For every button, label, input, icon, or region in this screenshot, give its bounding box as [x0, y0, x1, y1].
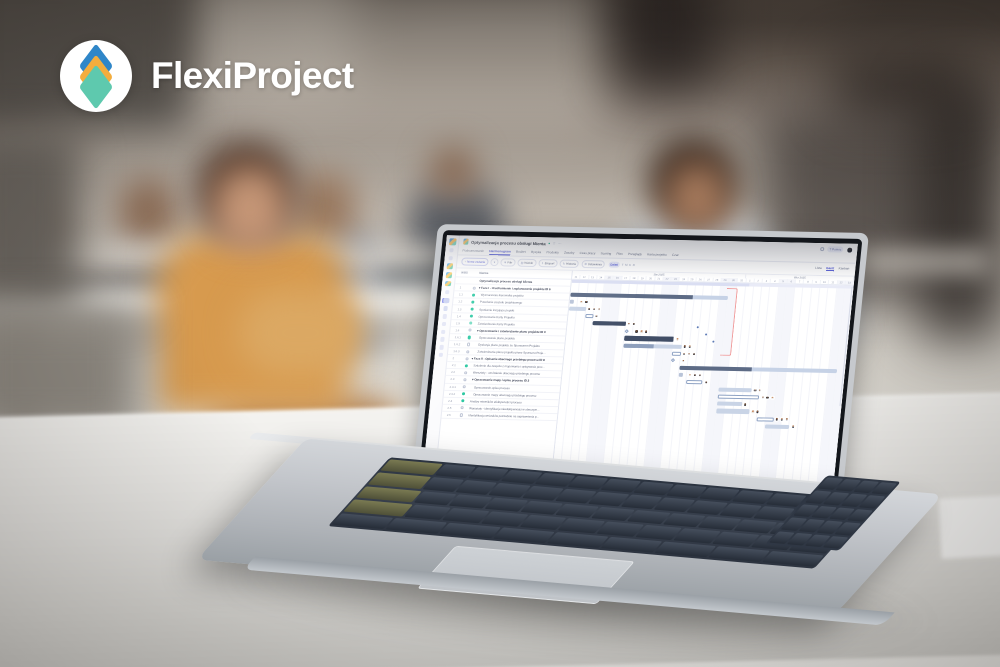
assignee-avatar[interactable]: [682, 344, 687, 348]
gantt-bar[interactable]: [623, 343, 681, 348]
tab-produkty[interactable]: Produkty: [546, 249, 559, 256]
check-circle-icon[interactable]: ●: [548, 241, 550, 245]
gantt-bar[interactable]: [717, 402, 742, 407]
sidebar-item-calendar[interactable]: [442, 322, 447, 326]
assignee-avatar[interactable]: [704, 380, 709, 384]
history-label: Historia: [566, 261, 576, 265]
keyboard-key: [439, 522, 501, 538]
cell-wbs: 2.3.2: [449, 392, 462, 396]
tab-zasoby[interactable]: Zasoby: [564, 249, 575, 256]
sidebar-item-reports[interactable]: [443, 298, 449, 303]
brand-logo: FlexiProject: [60, 40, 354, 112]
screenshot-root: FlexiProject: [0, 0, 1000, 667]
assignee-avatar[interactable]: [770, 396, 775, 400]
gantt-bar-progress: [623, 343, 654, 348]
gantt-bar[interactable]: [570, 300, 575, 304]
keyboard-key: [547, 532, 609, 548]
tab-plan[interactable]: Plan: [616, 250, 623, 257]
view-mode-gantt[interactable]: Gantt: [826, 266, 835, 271]
zoom-option-t[interactable]: T: [622, 262, 624, 266]
gantt-bar[interactable]: [624, 336, 674, 341]
assignee-avatar[interactable]: [675, 337, 680, 341]
cell-name: Opracowanie mapy obecnego przebiegu proc…: [468, 392, 560, 398]
cell-wbs: 2.4: [448, 399, 461, 403]
zoom-option-r[interactable]: R: [633, 263, 636, 267]
cell-wbs: 1.6: [455, 328, 468, 332]
milestone-diamond-icon[interactable]: [671, 358, 676, 363]
cell-name: Opracowanie opisu procesu: [469, 385, 561, 391]
assignee-avatar[interactable]: [765, 396, 770, 400]
sidebar-item-dashboard[interactable]: [449, 248, 454, 252]
cell-wbs: 1.3: [457, 307, 470, 311]
assignee-avatar[interactable]: [584, 300, 589, 304]
cell-name: Opracowanie planu projektu: [474, 335, 566, 341]
gantt-bar[interactable]: [757, 417, 774, 421]
assignee-avatar[interactable]: [692, 352, 697, 356]
sidebar-item-settings[interactable]: [442, 314, 447, 318]
sidebar-logo-icon[interactable]: [449, 238, 457, 245]
cell-name: Optymalizacja procesu obsługi klienta: [479, 279, 571, 285]
sidebar-item-goals[interactable]: [439, 345, 444, 349]
cell-name: Zatwierdzenie planu projektu przez Spons…: [472, 350, 564, 356]
cell-name: Identyfikacja wniosków potrzebnie na usp…: [466, 413, 558, 419]
cell-name: Dyskusja planu projektu ze Sponsorem Pro…: [473, 343, 565, 349]
task-rows[interactable]: Optymalizacja procesu obsługi klienta1▾ …: [436, 277, 571, 476]
assignee-avatar[interactable]: [587, 307, 592, 311]
assignee-avatar[interactable]: [688, 373, 693, 377]
assignee-avatar[interactable]: [780, 417, 785, 421]
view-mode-lista[interactable]: Lista: [815, 266, 822, 271]
star-icon[interactable]: ☆: [552, 242, 555, 246]
cell-wbs: 2.1: [452, 363, 465, 367]
keyboard-key: [385, 518, 447, 534]
assignee-avatar[interactable]: [592, 307, 597, 311]
table-row[interactable]: 2.6Identyfikacja wniosków potrzebnie na …: [441, 412, 557, 421]
sidebar-item-documents[interactable]: [441, 330, 446, 334]
views-label: Widoki: [524, 260, 533, 264]
column-header-nazwa: Nazwa: [479, 271, 488, 275]
cell-name: Wyznaczenie kierownika projektu: [478, 293, 570, 299]
sidebar-item-board[interactable]: [445, 281, 451, 286]
cell-wbs: 2: [452, 356, 465, 360]
assignee-avatar[interactable]: [644, 329, 649, 333]
sidebar-item-team[interactable]: [440, 337, 445, 341]
flexiproject-app: Optymalizacja procesu obsługi klienta ● …: [423, 235, 858, 483]
zoom-segmented-control[interactable]: Dzień T M K R: [608, 261, 635, 267]
project-icon: [463, 239, 469, 244]
help-button[interactable]: ? Pomoc: [827, 246, 844, 252]
tab-czas-pracy[interactable]: Czas pracy: [579, 250, 595, 257]
gantt-bar[interactable]: [678, 373, 683, 377]
cell-name: ▾ Faza II - Opisanie obecnego przebiegu …: [471, 357, 563, 363]
gantt-bar[interactable]: [718, 395, 760, 400]
assignee-avatar[interactable]: [687, 352, 692, 356]
assignee-avatar[interactable]: [784, 417, 789, 421]
gantt-bar[interactable]: [672, 351, 681, 355]
zoom-chip-dzien[interactable]: Dzień: [608, 261, 620, 267]
views-button[interactable]: ▤ Widoki: [517, 258, 536, 266]
logo-mark: [60, 40, 132, 112]
milestone-diamond-icon[interactable]: [624, 329, 629, 334]
gantt-bar-rows[interactable]: [552, 284, 853, 483]
keyboard-key: [493, 527, 555, 543]
keyboard-key: [601, 536, 663, 552]
avatar[interactable]: [846, 246, 854, 253]
assignee-avatar[interactable]: [743, 402, 748, 406]
gantt-bar[interactable]: [585, 314, 594, 318]
assignee-avatar[interactable]: [775, 417, 780, 421]
task-table: WBS Nazwa Optymalizacja procesu obsługi …: [436, 268, 573, 477]
cell-name: Powołanie zespołu projektowego: [477, 300, 569, 306]
settings-label: Ustawienia: [588, 262, 602, 266]
tab-przeglady[interactable]: Przeglądy: [628, 251, 643, 258]
cell-name: Spotkanie inicjujące projekt: [476, 307, 568, 313]
cell-wbs: 1.6.1: [455, 335, 468, 339]
cell-wbs: 1.2: [458, 300, 471, 304]
gantt-bar[interactable]: [718, 388, 752, 393]
assignee-avatar[interactable]: [753, 388, 758, 392]
cell-name: Szkolenie dla zespołu z mapowania i opis…: [471, 364, 563, 370]
cell-wbs: 2.6: [447, 413, 460, 417]
cell-name: ▾ Opracowanie i zatwierdzenie planu proj…: [474, 328, 566, 334]
bell-icon[interactable]: [820, 247, 824, 251]
view-mode-switch[interactable]: Lista Gantt Kanban: [815, 266, 852, 272]
brand-name: FlexiProject: [151, 55, 354, 97]
cell-name: ▾ Opracowanie mapy i opisu procesu ID 2: [469, 378, 561, 384]
laptop-device: Optymalizacja procesu obsługi klienta ● …: [240, 210, 920, 640]
chevron-down-icon: ▾: [494, 260, 496, 264]
cell-wbs: 2.2: [451, 370, 464, 374]
cell-name: ▾ Faza I - Uruchomienie i zaplanowanie p…: [479, 286, 571, 292]
assignee-avatar[interactable]: [594, 314, 599, 318]
assignee-avatar[interactable]: [627, 322, 632, 326]
settings-button[interactable]: ⚙ Ustawienia: [581, 260, 606, 268]
assignee-avatar[interactable]: [698, 373, 703, 377]
diamond-bottom-icon: [76, 77, 116, 97]
cell-name: Opracowanie Karty Projektu: [476, 314, 568, 320]
sidebar-item-portfolio[interactable]: [447, 264, 453, 269]
gantt-bar-progress: [679, 366, 752, 371]
cell-wbs: 2.5: [447, 406, 460, 410]
gantt-bar[interactable]: [764, 424, 789, 429]
sidebar-item-projects[interactable]: [448, 256, 453, 260]
new-task-dropdown[interactable]: ▾: [490, 258, 499, 266]
assignee-avatar[interactable]: [682, 351, 687, 355]
help-label: Pomoc: [832, 247, 841, 251]
cell-name: Warsztaty - identyfikacja nieefektywnośc…: [466, 406, 558, 412]
tab-scoring[interactable]: Scoring: [600, 250, 611, 257]
cell-wbs: 2.3: [450, 377, 463, 381]
keyboard-key: [762, 551, 824, 567]
cell-wbs: 1.1: [459, 293, 472, 297]
tab-karta-projektu[interactable]: Karta projektu: [647, 251, 667, 258]
sidebar-item-program[interactable]: [446, 272, 452, 277]
export-button[interactable]: ⇩ Eksport: [538, 259, 558, 267]
assignee-avatar[interactable]: [681, 359, 686, 363]
sidebar-item-link[interactable]: [438, 353, 443, 357]
gantt-bar[interactable]: [686, 380, 703, 384]
cell-wbs: 1.4: [457, 314, 470, 318]
cell-wbs: 1.5: [456, 321, 469, 325]
cell-name: Zatwierdzenie Karty Projektu: [475, 321, 567, 327]
new-task-label: Nowe zadanie: [467, 259, 485, 263]
cell-name: Warsztaty - omówienie obecnego przebiegu…: [470, 371, 562, 377]
gantt-bar[interactable]: [592, 321, 626, 326]
gantt-bar-progress: [624, 336, 674, 341]
assignee-avatar[interactable]: [596, 307, 601, 311]
cell-name: Analizy mierników efektywności procesu: [467, 399, 559, 405]
assignee-avatar[interactable]: [687, 344, 692, 348]
cell-wbs: 1.6.2: [454, 342, 467, 346]
zoom-option-m[interactable]: M: [625, 263, 628, 267]
view-mode-kanban[interactable]: Kanban: [838, 267, 849, 272]
keyboard-key: [654, 541, 716, 557]
new-task-button[interactable]: + Nowe zadanie: [461, 257, 489, 265]
gantt-bar[interactable]: [716, 409, 750, 414]
gantt-bar-progress: [592, 321, 626, 326]
sidebar-item-resources[interactable]: [445, 290, 450, 294]
export-label: Eksport: [545, 261, 555, 265]
assignee-avatar[interactable]: [791, 425, 796, 429]
cell-wbs: 2.3.1: [449, 385, 462, 389]
cell-wbs: 1: [460, 286, 473, 290]
keyboard-key: [332, 513, 394, 529]
assignee-avatar[interactable]: [579, 300, 584, 304]
keyboard-key: [708, 546, 770, 562]
zoom-option-k[interactable]: K: [629, 263, 631, 267]
tab-czat[interactable]: Czat: [672, 252, 679, 259]
tab-harmonogram[interactable]: Harmonogram: [489, 248, 511, 255]
laptop-screen: Optymalizacja procesu obsługi klienta ● …: [423, 235, 858, 483]
filter-button[interactable]: ▼ Filtr: [500, 258, 516, 266]
assignee-avatar[interactable]: [755, 410, 760, 414]
assignee-avatar[interactable]: [632, 322, 637, 326]
assignee-avatar[interactable]: [693, 373, 698, 377]
page-title: Optymalizacja procesu obsługi klienta: [471, 239, 546, 246]
gantt-day-label: 13: [846, 281, 855, 285]
sidebar-item-filter[interactable]: [443, 306, 448, 310]
history-button[interactable]: ↻ Historia: [559, 259, 579, 267]
tab-ryzyka[interactable]: Ryzyka: [531, 249, 542, 256]
more-options-icon[interactable]: ⋯: [558, 242, 562, 246]
gantt-bar[interactable]: [569, 307, 586, 311]
cell-wbs: 1.6.3: [453, 349, 466, 353]
gantt-chart[interactable]: Sie 2025Wrz 2025 11121314151617181920212…: [552, 271, 855, 483]
tab-budzet[interactable]: Budżet: [516, 248, 527, 255]
column-header-wbs: WBS: [461, 270, 479, 274]
tab-podsumowanie[interactable]: Podsumowanie: [462, 247, 484, 254]
assignee-avatar[interactable]: [758, 388, 763, 392]
filter-label: Filtr: [507, 260, 512, 264]
